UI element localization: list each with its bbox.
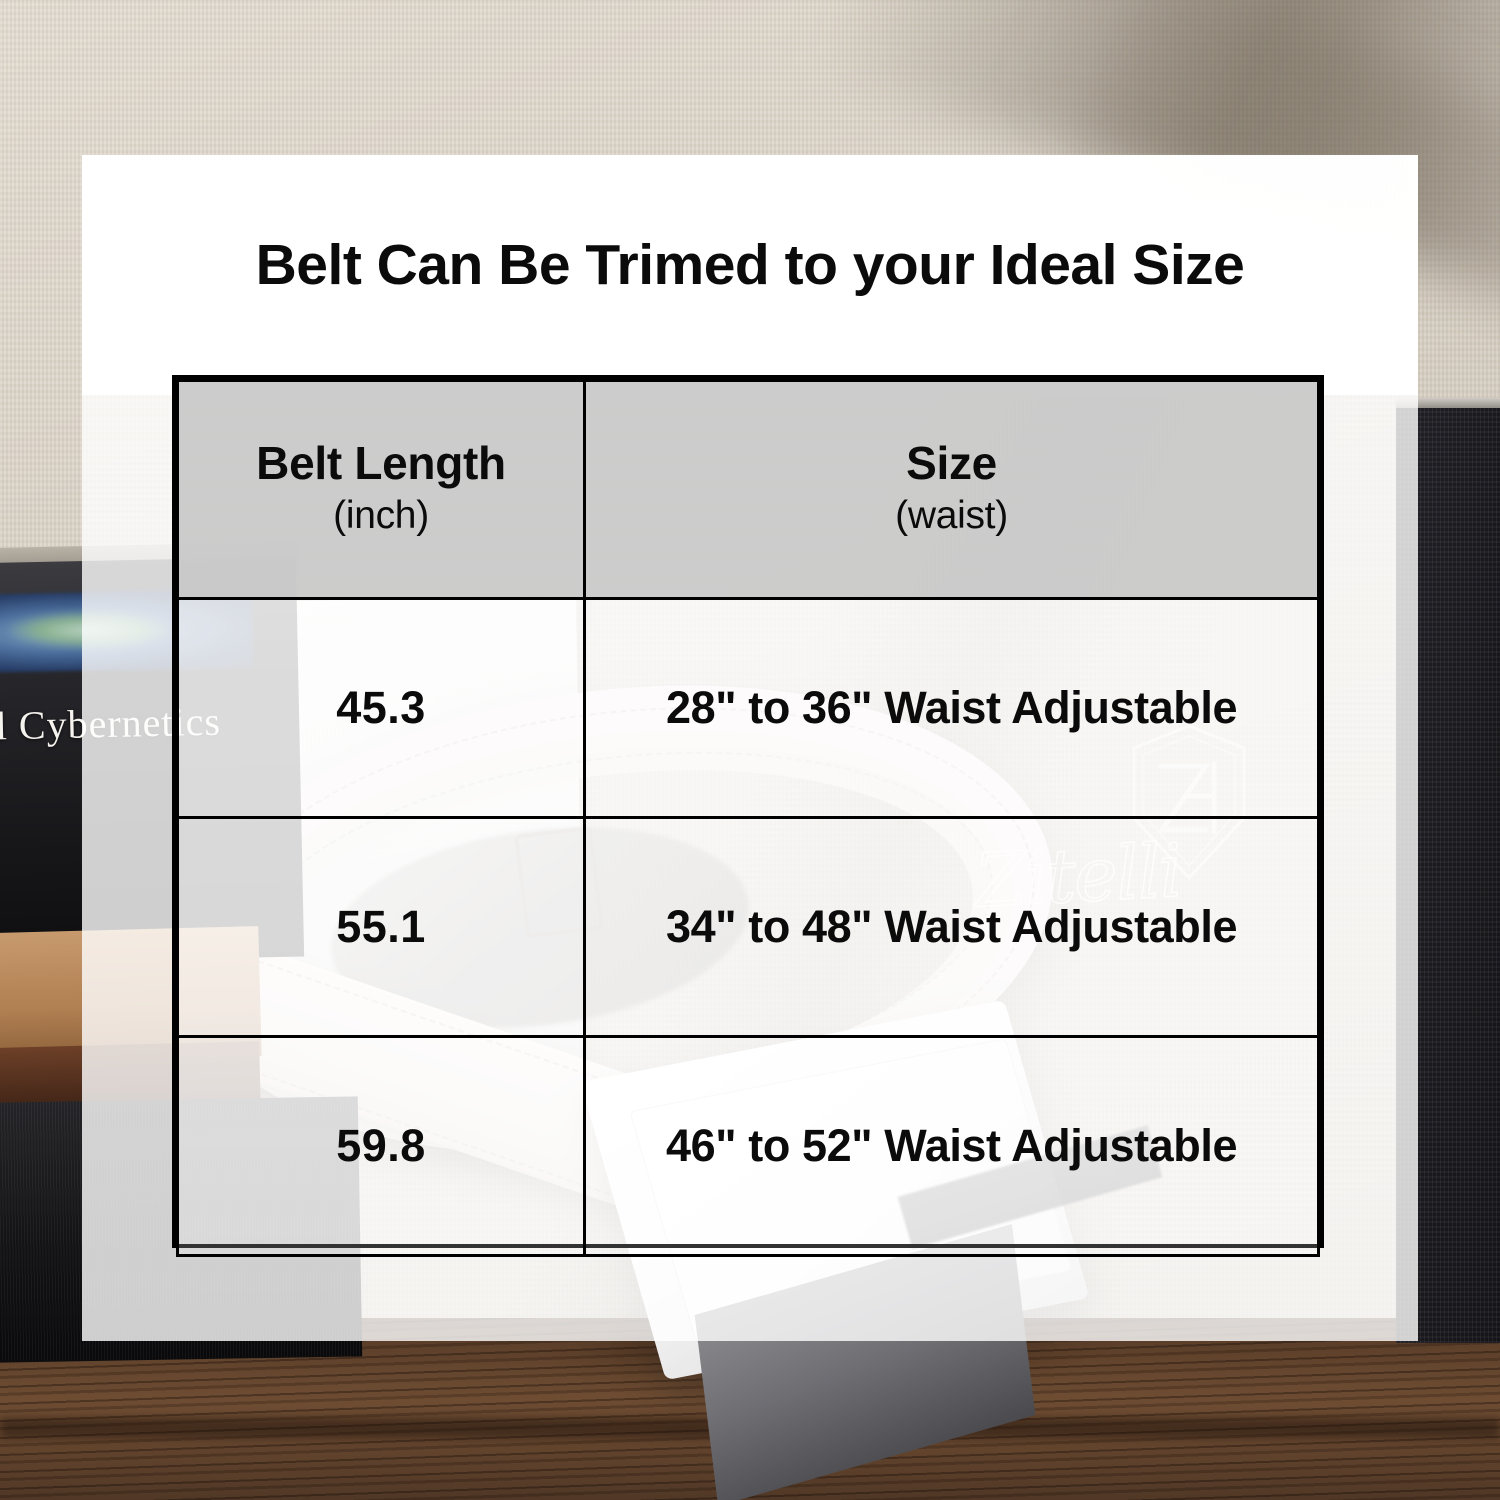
header-belt-length-unit: (inch) [179, 492, 583, 541]
header-belt-length-main: Belt Length [179, 439, 583, 488]
page-title: Belt Can Be Trimed to your Ideal Size [82, 232, 1418, 298]
cell-belt-length: 55.1 [178, 818, 585, 1037]
header-size-unit: (waist) [586, 492, 1317, 541]
table-row: 45.3 28" to 36" Waist Adjustable [178, 599, 1319, 818]
product-size-chart-image: ational Cybernetics Zitelli Belt Can Be … [0, 0, 1500, 1500]
table-header-row: Belt Length (inch) Size (waist) [178, 381, 1319, 599]
cell-belt-length: 59.8 [178, 1037, 585, 1256]
cell-waist-size: 28" to 36" Waist Adjustable [585, 599, 1319, 818]
cell-belt-length: 45.3 [178, 599, 585, 818]
header-belt-length: Belt Length (inch) [178, 381, 585, 599]
table-row: 55.1 34" to 48" Waist Adjustable [178, 818, 1319, 1037]
header-size-main: Size [586, 439, 1317, 488]
header-size: Size (waist) [585, 381, 1319, 599]
cell-waist-size: 34" to 48" Waist Adjustable [585, 818, 1319, 1037]
size-chart-table: Belt Length (inch) Size (waist) 45.3 28"… [172, 375, 1324, 1248]
cell-waist-size: 46" to 52" Waist Adjustable [585, 1037, 1319, 1256]
table-row: 59.8 46" to 52" Waist Adjustable [178, 1037, 1319, 1256]
